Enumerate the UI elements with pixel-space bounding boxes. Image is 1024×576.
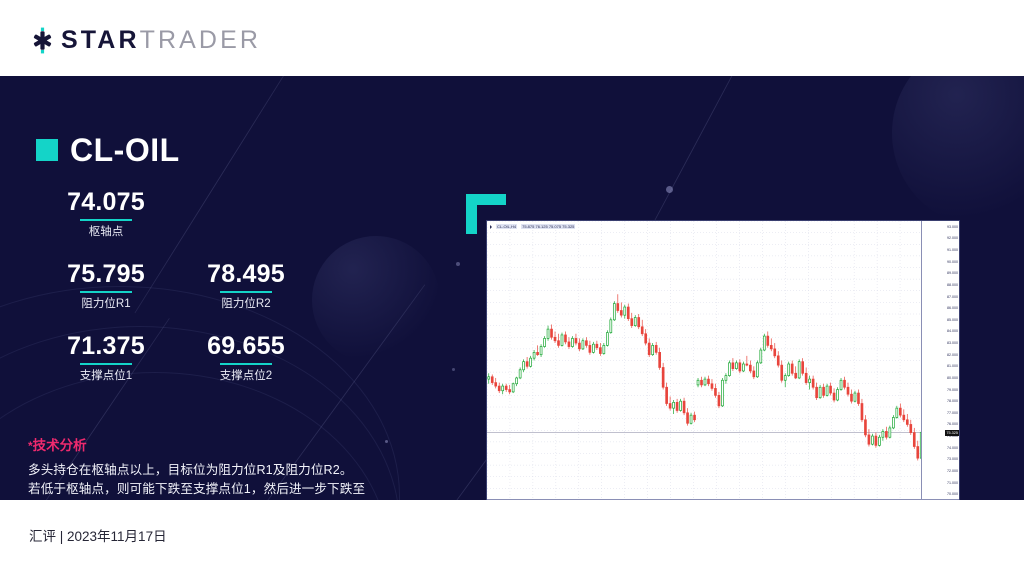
page-footer: 汇评 | 2023年11月17日 — [0, 500, 1024, 576]
symbol-bullet-icon — [36, 139, 58, 161]
price-tick-label: 90.000 — [947, 260, 958, 264]
planet-deco-mid — [312, 236, 440, 364]
dot-deco-1 — [666, 186, 673, 193]
price-tick-label: 85.000 — [947, 318, 958, 322]
analysis-line-2: 若低于枢轴点，则可能下跌至支撑点位1，然后进一步下跌至 — [28, 480, 400, 499]
brand-name-light: TRADER — [140, 26, 261, 54]
star-asterisk-icon — [29, 27, 56, 54]
chart-price-axis: 93.00092.00091.00090.00089.00088.00087.0… — [921, 221, 959, 499]
price-tick-label: 76.000 — [947, 422, 958, 426]
page-header: STARTRADER — [0, 0, 1024, 76]
price-tick-label: 84.000 — [947, 329, 958, 333]
pivot-cell-s1: 71.375 支撑点位1 — [36, 332, 176, 383]
price-tick-label: 72.000 — [947, 469, 958, 473]
price-tick-label: 82.000 — [947, 353, 958, 357]
technical-analysis-block: *技术分析 多头持仓在枢轴点以上，目标位为阻力位R1及阻力位R2。 若低于枢轴点… — [28, 437, 400, 500]
technical-analysis-heading: *技术分析 — [28, 437, 400, 455]
brand-logo: STARTRADER — [29, 27, 261, 53]
price-tick-label: 83.000 — [947, 341, 958, 345]
technical-analysis-body: 多头持仓在枢轴点以上，目标位为阻力位R1及阻力位R2。 若低于枢轴点，则可能下跌… — [28, 461, 400, 500]
symbol-title-row: CL-OIL — [36, 134, 180, 166]
page-title: CL-OIL — [70, 134, 180, 166]
price-tick-label: 79.000 — [947, 388, 958, 392]
pivot-levels: 74.075 枢轴点 75.795 阻力位R1 78.495 阻力位R2 — [36, 188, 316, 383]
pivot-value: 74.075 — [36, 188, 176, 216]
pivot-gap-2 — [36, 311, 316, 332]
pivot-row-support: 71.375 支撑点位1 69.655 支撑点位2 — [36, 332, 316, 383]
brand-name-bold: STAR — [61, 26, 140, 54]
pivot-row-pivot: 74.075 枢轴点 — [36, 188, 316, 239]
hero-panel: CL-OIL 74.075 枢轴点 75.795 阻力位R1 78.495 — [0, 76, 1024, 500]
pivot-underline — [80, 219, 132, 221]
pivot-label: 枢轴点 — [36, 225, 176, 239]
analysis-line-1: 多头持仓在枢轴点以上，目标位为阻力位R1及阻力位R2。 — [28, 461, 400, 480]
chart-quote-label: 75.875 76.125 75.075 75.325 — [521, 224, 575, 229]
r2-underline — [220, 291, 272, 293]
price-tick-label: 92.000 — [947, 236, 958, 240]
pivot-row-resistance: 75.795 阻力位R1 78.495 阻力位R2 — [36, 260, 316, 311]
r1-label: 阻力位R1 — [36, 297, 176, 311]
pivot-cell-r1: 75.795 阻力位R1 — [36, 260, 176, 311]
price-tick-label: 89.000 — [947, 271, 958, 275]
r2-value: 78.495 — [176, 260, 316, 288]
chart-symbol-label: CL-OIL,H4 — [496, 224, 517, 229]
price-tick-label: 77.000 — [947, 411, 958, 415]
r1-underline — [80, 291, 132, 293]
price-tick-label: 81.000 — [947, 364, 958, 368]
pivot-cell-r2: 78.495 阻力位R2 — [176, 260, 316, 311]
footer-caption: 汇评 | 2023年11月17日 — [29, 528, 167, 546]
price-tick-label: 88.000 — [947, 283, 958, 287]
s2-label: 支撑点位2 — [176, 369, 316, 383]
technical-analysis-heading-text: 技术分析 — [33, 438, 87, 453]
poster-page: STARTRADER CL-OIL 74.075 — [0, 0, 1024, 576]
dot-deco-4 — [452, 368, 455, 371]
pivot-gap-1 — [36, 239, 316, 260]
candlestick-series — [487, 221, 921, 499]
price-tick-label: 87.000 — [947, 295, 958, 299]
candlestick-chart[interactable]: CL-OIL,H4 75.875 76.125 75.075 75.325 93… — [486, 220, 960, 500]
price-tick-label: 80.000 — [947, 376, 958, 380]
s1-value: 71.375 — [36, 332, 176, 360]
chart-header: CL-OIL,H4 75.875 76.125 75.075 75.325 — [488, 222, 575, 231]
dot-deco-2 — [456, 262, 460, 266]
price-tick-label: 86.000 — [947, 306, 958, 310]
price-tick-label: 93.000 — [947, 225, 958, 229]
r1-value: 75.795 — [36, 260, 176, 288]
price-tick-label: 78.000 — [947, 399, 958, 403]
corner-bracket-top-left-h — [466, 194, 506, 205]
brand-wordmark: STARTRADER — [61, 27, 261, 54]
s2-value: 69.655 — [176, 332, 316, 360]
chart-plot-area — [487, 221, 921, 499]
s1-underline — [80, 363, 132, 365]
price-tick-label: 74.000 — [947, 446, 958, 450]
pivot-cell-s2: 69.655 支撑点位2 — [176, 332, 316, 383]
collapse-triangle-icon[interactable] — [490, 225, 492, 229]
price-tick-label: 71.000 — [947, 481, 958, 485]
price-tick-label: 73.000 — [947, 457, 958, 461]
price-tick-label: 70.000 — [947, 492, 958, 496]
pivot-cell-pivot: 74.075 枢轴点 — [36, 188, 176, 239]
r2-label: 阻力位R2 — [176, 297, 316, 311]
chart-container: CL-OIL,H4 75.875 76.125 75.075 75.325 93… — [466, 194, 980, 500]
s1-label: 支撑点位1 — [36, 369, 176, 383]
s2-underline — [220, 363, 272, 365]
price-tick-label: 91.000 — [947, 248, 958, 252]
current-price-tag: 75.325 — [945, 430, 959, 436]
